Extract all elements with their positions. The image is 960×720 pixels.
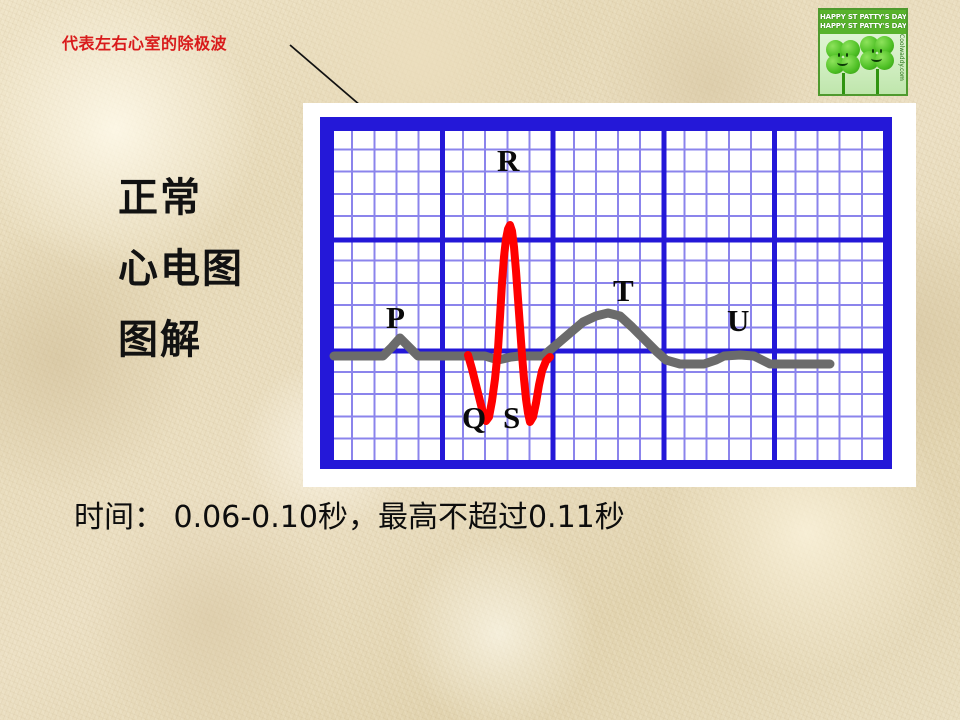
wave-label-t: T [613, 275, 634, 306]
wave-label-q: Q [462, 402, 486, 433]
wave-label-r: R [497, 145, 519, 176]
ecg-grid-wrapper: P Q R S T U [320, 117, 892, 469]
caption-duration: 时间： 0.06-0.10秒，最高不超过0.11秒 [74, 492, 625, 536]
ecg-waveform [320, 117, 892, 469]
page-title: 正常 心电图 图解 [118, 178, 308, 360]
clover-face-left [835, 53, 851, 64]
logo-text-line-2: HAPPY ST PATTY'S DAY [820, 22, 906, 31]
wave-label-u: U [727, 305, 749, 336]
title-line-3: 图解 [118, 320, 308, 360]
logo-text-line-1: HAPPY ST PATTY'S DAY [820, 13, 906, 22]
annotation-text-qrs: 代表左右心室的除极波 [62, 30, 227, 54]
wave-label-s: S [503, 402, 520, 433]
ecg-diagram-card: P Q R S T U [303, 103, 916, 487]
title-line-1: 正常 [118, 178, 308, 218]
wave-label-p: P [386, 302, 405, 333]
clover-face-right [869, 49, 885, 60]
st-pattys-day-logo: HAPPY ST PATTY'S DAY HAPPY ST PATTY'S DA… [818, 8, 908, 96]
logo-banner: HAPPY ST PATTY'S DAY HAPPY ST PATTY'S DA… [820, 10, 906, 34]
clover-artwork [820, 34, 906, 96]
title-line-2: 心电图 [118, 249, 308, 289]
logo-watermark-text: Coolwaddy.com [898, 34, 905, 81]
slide-canvas: 代表左右心室的除极波 正常 心电图 图解 时间： 0.06-0.10秒，最高不超… [0, 0, 960, 720]
